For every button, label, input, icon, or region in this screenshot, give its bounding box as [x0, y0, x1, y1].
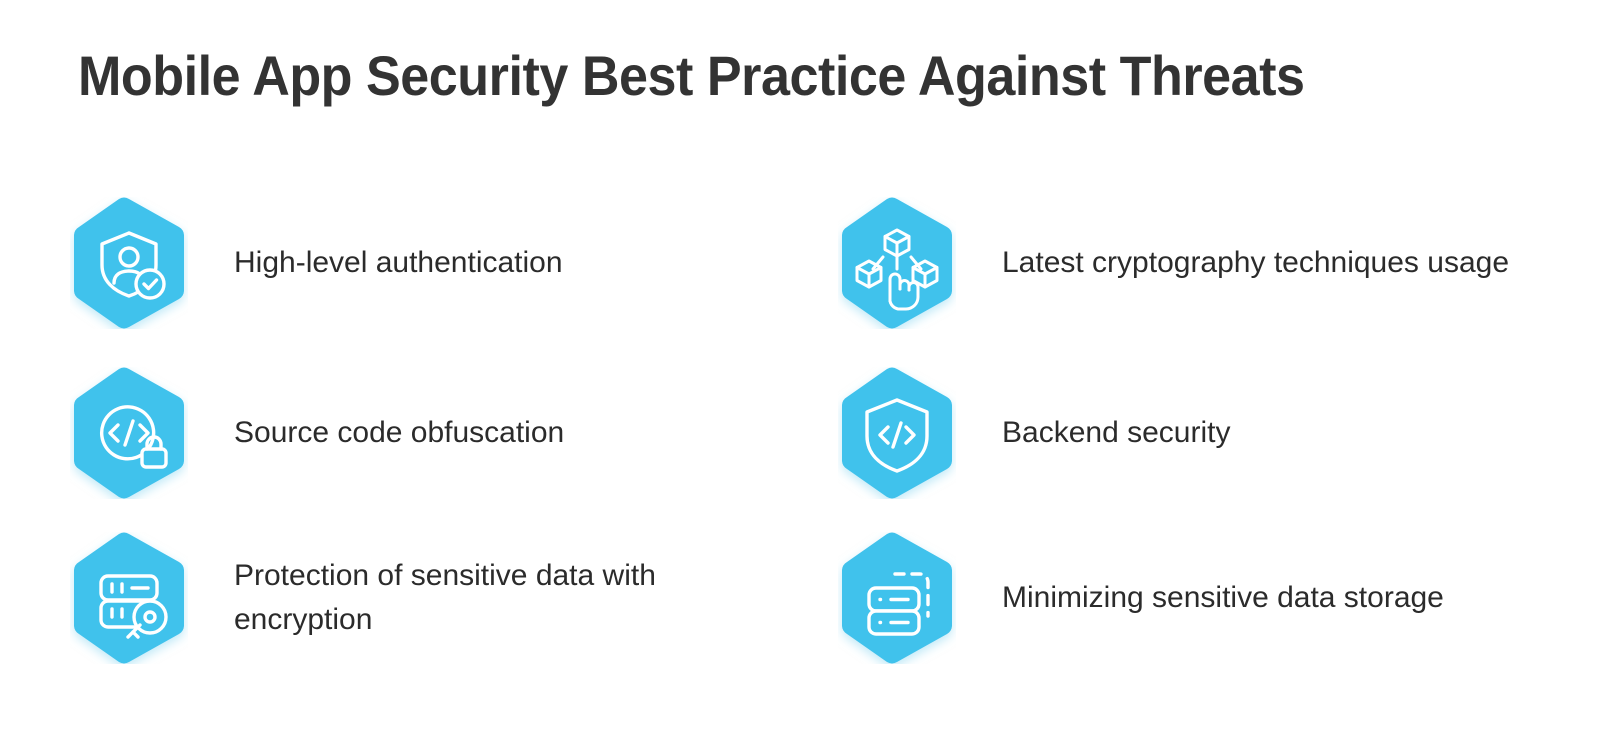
right-column: Latest cryptography techniques usage: [838, 178, 1538, 678]
page-title: Mobile App Security Best Practice Agains…: [78, 42, 1305, 110]
list-item[interactable]: High-level authentication: [70, 178, 770, 348]
list-item-label: Protection of sensitive data with encryp…: [234, 554, 734, 642]
list-item-label: Minimizing sensitive data storage: [1002, 576, 1444, 620]
hexagon-shape: [838, 532, 956, 664]
hexagon-badge: [70, 367, 188, 499]
hexagon-badge: [70, 197, 188, 329]
list-item-label: High-level authentication: [234, 241, 563, 285]
list-item[interactable]: Minimizing sensitive data storage: [838, 518, 1538, 678]
list-item-label: Backend security: [1002, 411, 1230, 455]
hexagon-badge: [838, 197, 956, 329]
list-item[interactable]: Latest cryptography techniques usage: [838, 178, 1538, 348]
hexagon-badge: [70, 532, 188, 664]
list-item[interactable]: Source code obfuscation: [70, 348, 770, 518]
hexagon-shape: [70, 197, 188, 329]
infographic-page: Mobile App Security Best Practice Agains…: [0, 0, 1600, 733]
hexagon-shape: [70, 532, 188, 664]
hexagon-shape: [838, 197, 956, 329]
list-item-label: Source code obfuscation: [234, 411, 564, 455]
hexagon-shape: [70, 367, 188, 499]
hexagon-shape: [838, 367, 956, 499]
hexagon-badge: [838, 532, 956, 664]
list-item[interactable]: Backend security: [838, 348, 1538, 518]
left-column: High-level authentication: [70, 178, 770, 678]
list-item-label: Latest cryptography techniques usage: [1002, 241, 1509, 285]
hexagon-badge: [838, 367, 956, 499]
list-item[interactable]: Protection of sensitive data with encryp…: [70, 518, 770, 678]
